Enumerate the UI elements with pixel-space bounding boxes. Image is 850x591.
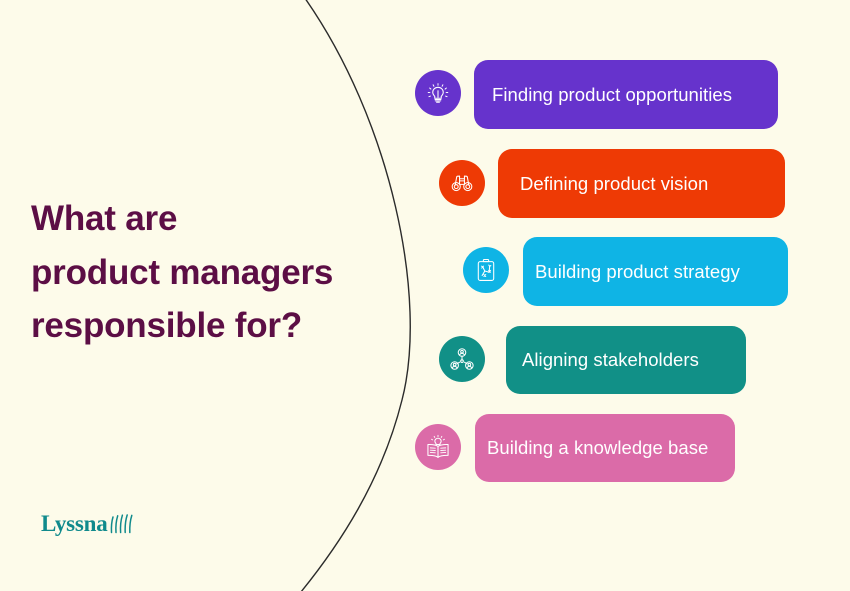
open-book-lightbulb-icon: [415, 424, 461, 470]
card-label: Defining product vision: [520, 173, 708, 195]
card-label: Finding product opportunities: [492, 84, 732, 106]
page-title: What are product managers responsible fo…: [31, 192, 421, 353]
list-item[interactable]: Finding product opportunities: [415, 70, 461, 116]
list-item[interactable]: Building a knowledge base: [415, 424, 461, 470]
infographic-slide: What are product managers responsible fo…: [0, 0, 850, 591]
card-building-product-strategy[interactable]: Building product strategy: [523, 237, 788, 306]
card-aligning-stakeholders[interactable]: Aligning stakeholders: [506, 326, 746, 394]
wave-squiggle-icon: [109, 514, 133, 534]
lightbulb-icon: [415, 70, 461, 116]
lyssna-logo: Lyssna: [41, 505, 133, 535]
list-item[interactable]: Defining product vision: [439, 160, 485, 206]
card-building-a-knowledge-base[interactable]: Building a knowledge base: [475, 414, 735, 482]
card-label: Building product strategy: [535, 261, 740, 283]
stakeholder-network-icon: [439, 336, 485, 382]
card-finding-product-opportunities[interactable]: Finding product opportunities: [474, 60, 778, 129]
card-label: Building a knowledge base: [487, 437, 708, 459]
binoculars-icon: [439, 160, 485, 206]
card-defining-product-vision[interactable]: Defining product vision: [498, 149, 785, 218]
list-item[interactable]: Building product strategy: [463, 247, 509, 293]
brand-wordmark: Lyssna: [41, 512, 108, 535]
card-label: Aligning stakeholders: [522, 349, 699, 371]
clipboard-strategy-icon: [463, 247, 509, 293]
list-item[interactable]: Aligning stakeholders: [439, 336, 485, 382]
